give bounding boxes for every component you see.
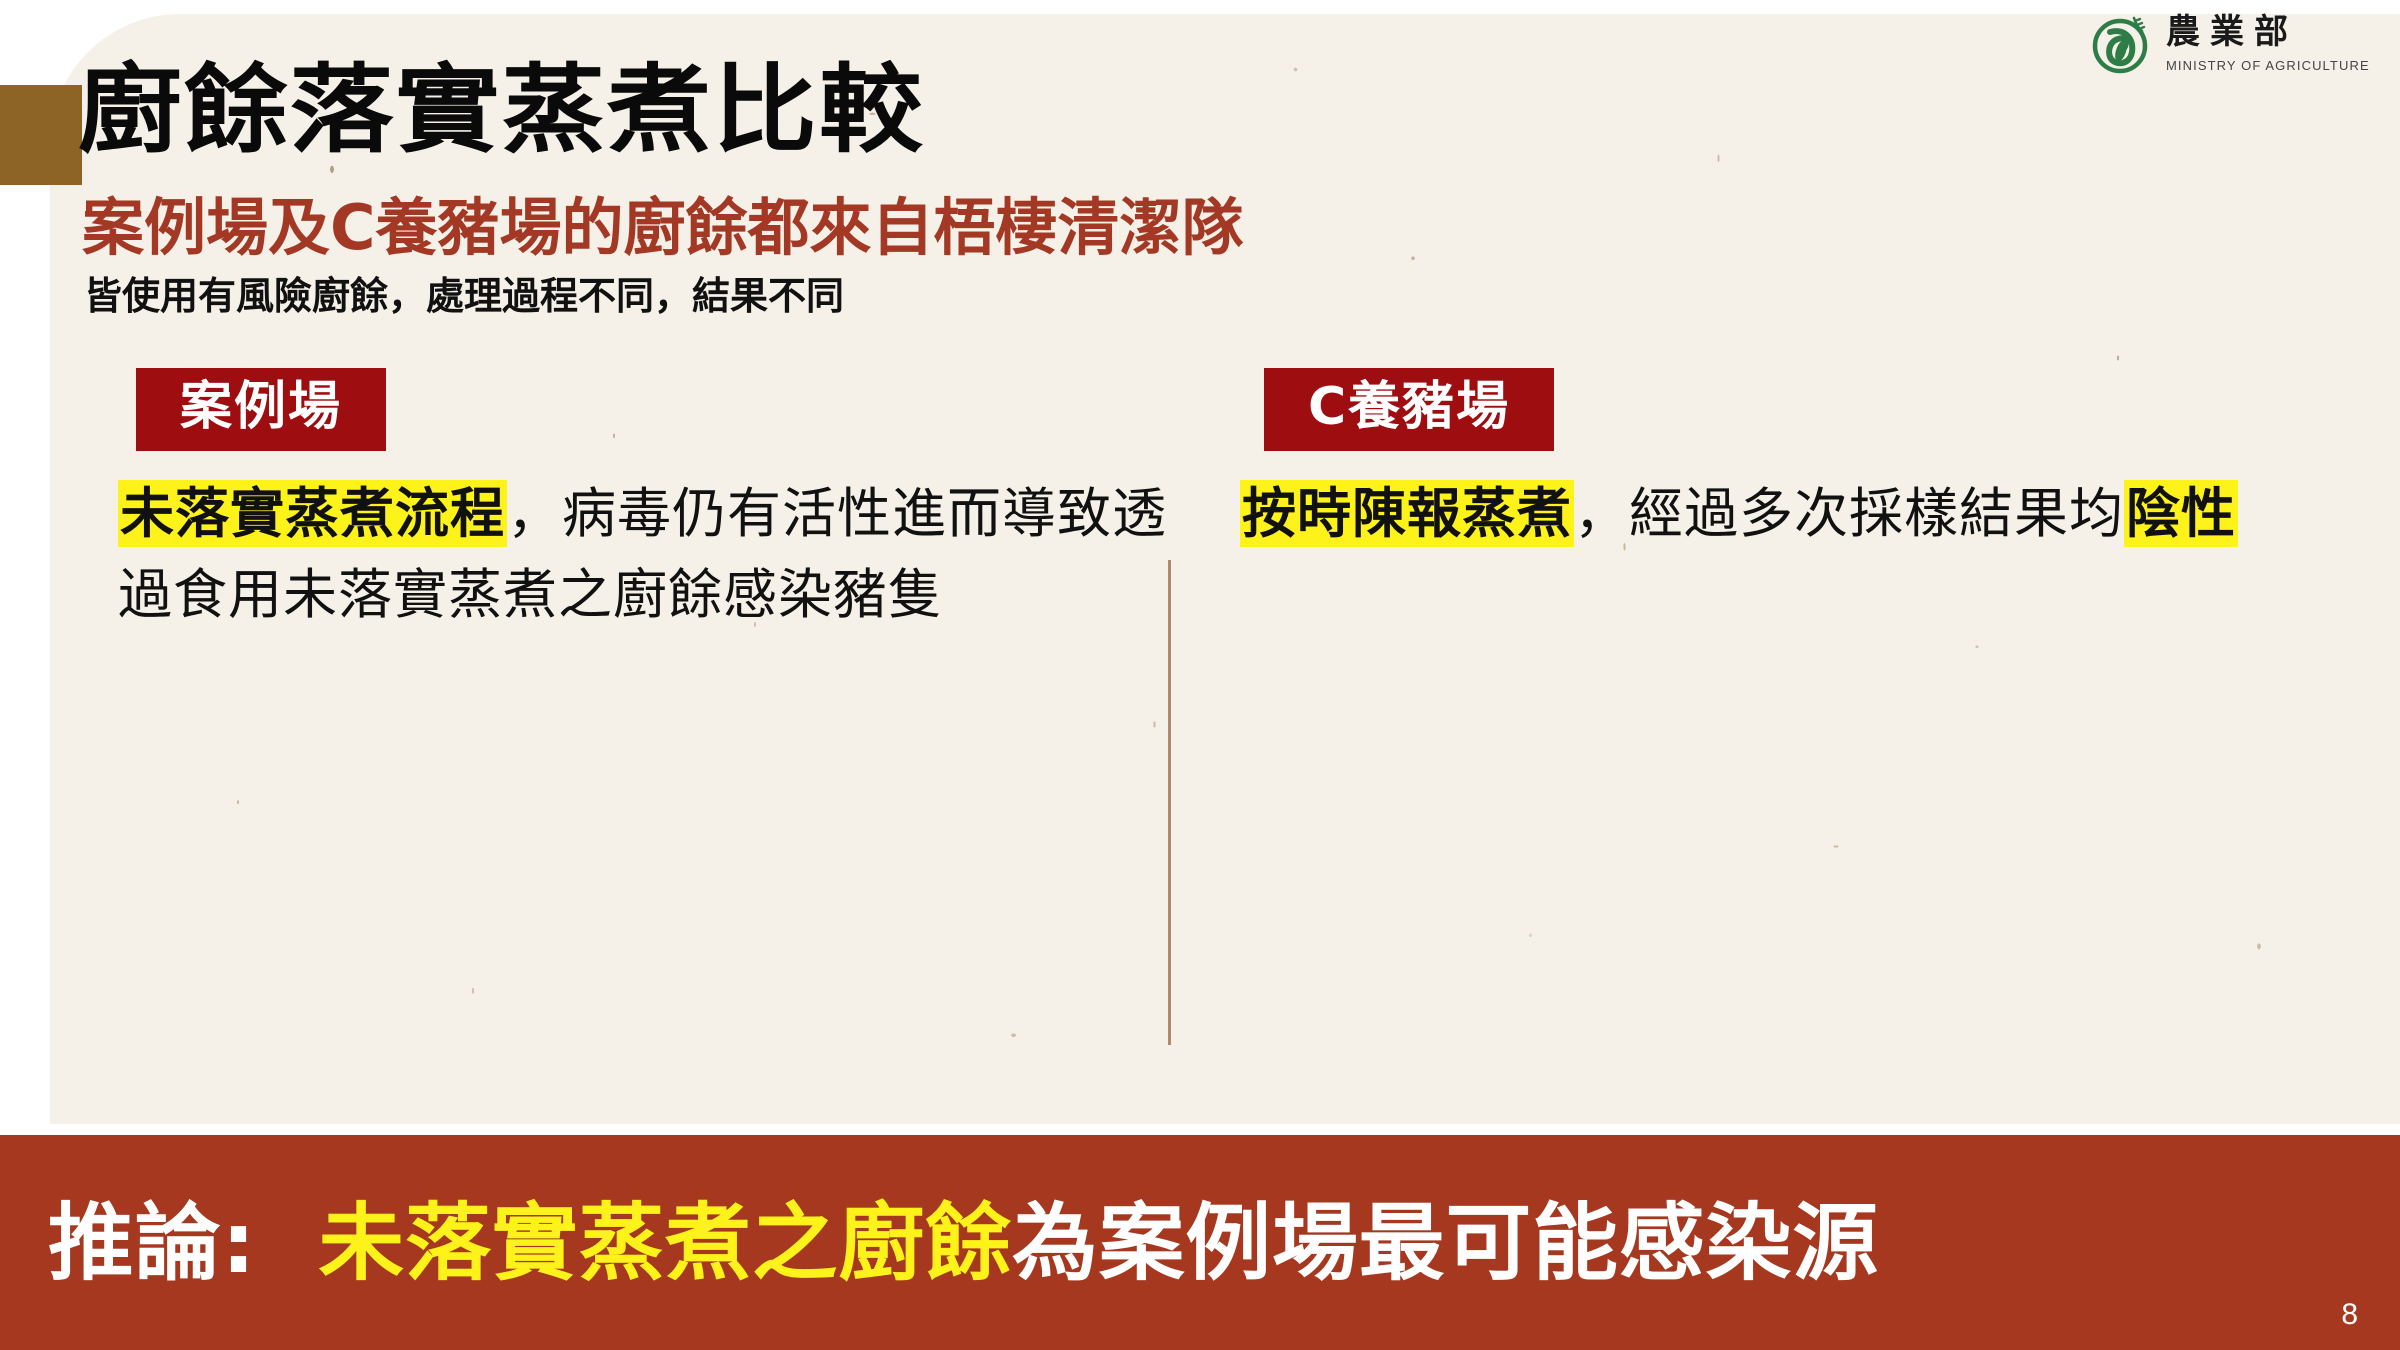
- column-divider: [1168, 560, 1171, 1045]
- conclusion-text: 推論: 未落實蒸煮之廚餘為案例場最可能感染源: [48, 1201, 1879, 1285]
- conclusion-banner: 推論: 未落實蒸煮之廚餘為案例場最可能感染源 8: [0, 1135, 2400, 1350]
- column-case-farm: 案例場 未落實蒸煮流程，病毒仍有活性進而導致透過食用未落實蒸煮之廚餘感染豬隻: [118, 368, 1168, 635]
- page-number: 8: [2341, 1298, 2358, 1332]
- conclusion-label: 推論:: [48, 1194, 257, 1292]
- highlight-negative-result: 陰性: [2124, 480, 2238, 547]
- ochre-accent-bar: [0, 85, 82, 185]
- column-c-pig-farm-body: 按時陳報蒸煮，經過多次採樣結果均陰性: [1240, 473, 2250, 554]
- badge-case-farm: 案例場: [136, 368, 386, 451]
- highlight-no-steaming-process: 未落實蒸煮流程: [118, 480, 507, 547]
- page-subnote: 皆使用有風險廚餘，處理過程不同，結果不同: [84, 277, 844, 315]
- conclusion-tail: 為案例場最可能感染源: [1012, 1194, 1879, 1292]
- page-subtitle: 案例場及C養豬場的廚餘都來自梧棲清潔隊: [82, 197, 1244, 259]
- badge-c-pig-farm: C養豬場: [1264, 368, 1554, 451]
- column-c-pig-farm-middle: ，經過多次採樣結果均: [1574, 482, 2124, 545]
- page-title: 廚餘落實蒸煮比較: [78, 62, 925, 158]
- column-case-farm-body: 未落實蒸煮流程，病毒仍有活性進而導致透過食用未落實蒸煮之廚餘感染豬隻: [118, 473, 1168, 635]
- ministry-of-agriculture-emblem-icon: [2090, 12, 2154, 76]
- logo-chinese-name: 農業部: [2166, 16, 2370, 50]
- logo-english-name: MINISTRY OF AGRICULTURE: [2166, 59, 2370, 72]
- ministry-logo: 農業部 MINISTRY OF AGRICULTURE: [2072, 0, 2390, 88]
- highlight-on-time-reporting: 按時陳報蒸煮: [1240, 480, 1574, 547]
- conclusion-highlight: 未落實蒸煮之廚餘: [318, 1194, 1012, 1292]
- slide-root: 農業部 MINISTRY OF AGRICULTURE 廚餘落實蒸煮比較 案例場…: [0, 0, 2400, 1350]
- column-c-pig-farm: C養豬場 按時陳報蒸煮，經過多次採樣結果均陰性: [1240, 368, 2250, 554]
